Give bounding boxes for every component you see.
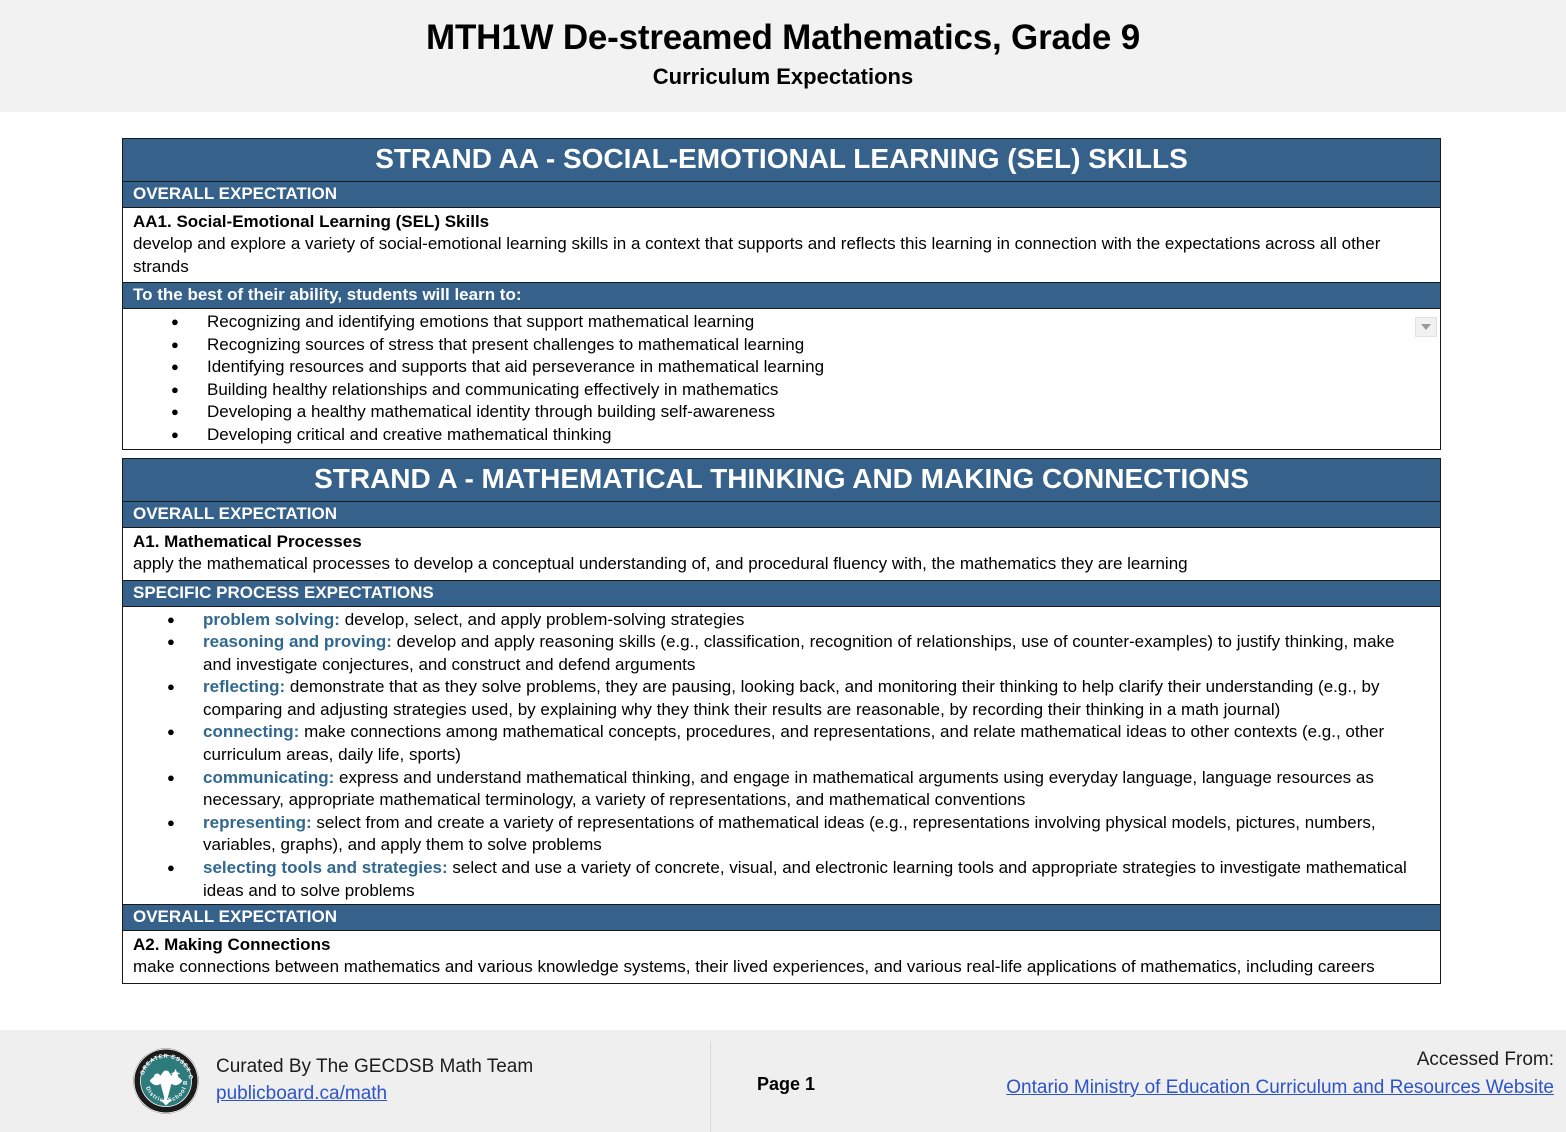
list-item: Recognizing sources of stress that prese… <box>123 334 1426 357</box>
footer-credit-lines: Curated By The GECDSB Math Team publicbo… <box>216 1053 533 1109</box>
list-item: representing: select from and create a v… <box>123 812 1426 857</box>
page-subtitle: Curriculum Expectations <box>0 62 1566 92</box>
page-number: Page 1 <box>757 1074 815 1095</box>
document-header: MTH1W De-streamed Mathematics, Grade 9 C… <box>0 0 1566 112</box>
list-item-text: develop, select, and apply problem-solvi… <box>340 610 744 629</box>
ontario-curriculum-link[interactable]: Ontario Ministry of Education Curriculum… <box>1006 1074 1554 1102</box>
strand-a-bullet-list: problem solving: develop, select, and ap… <box>123 607 1440 905</box>
strand-table-a: STRAND A - MATHEMATICAL THINKING AND MAK… <box>122 458 1441 984</box>
list-item-text: express and understand mathematical thin… <box>203 768 1374 810</box>
strand-a-title: STRAND A - MATHEMATICAL THINKING AND MAK… <box>123 459 1440 502</box>
list-item-text: select from and create a variety of repr… <box>203 813 1376 855</box>
list-item: Identifying resources and supports that … <box>123 356 1426 379</box>
strand-a-expectation-heading-1: A1. Mathematical Processes <box>133 531 1430 553</box>
list-item-text: Developing critical and creative mathema… <box>207 425 611 444</box>
list-item-term: problem solving: <box>203 610 340 629</box>
footer-source-block: Accessed From: Ontario Ministry of Educa… <box>1006 1046 1554 1102</box>
list-item-text: demonstrate that as they solve problems,… <box>203 677 1379 719</box>
strand-aa-overall-expectation-band: OVERALL EXPECTATION <box>123 182 1440 208</box>
list-item-term: reflecting: <box>203 677 285 696</box>
list-item-term: connecting: <box>203 722 299 741</box>
list-item-term: selecting tools and strategies: <box>203 858 448 877</box>
strand-a-overall-expectation-band-1: OVERALL EXPECTATION <box>123 502 1440 528</box>
list-item-term: representing: <box>203 813 312 832</box>
page-title: MTH1W De-streamed Mathematics, Grade 9 <box>0 16 1566 60</box>
list-item: selecting tools and strategies: select a… <box>123 857 1426 902</box>
list-item: problem solving: develop, select, and ap… <box>123 609 1426 632</box>
strand-aa-expectation-text: develop and explore a variety of social-… <box>133 233 1430 278</box>
list-item: connecting: make connections among mathe… <box>123 721 1426 766</box>
strand-a-expectation-text-1: apply the mathematical processes to deve… <box>133 553 1430 576</box>
chevron-down-icon[interactable] <box>1415 317 1437 337</box>
strand-a-expectation-heading-2: A2. Making Connections <box>133 934 1430 956</box>
list-item: Building healthy relationships and commu… <box>123 379 1426 402</box>
footer-credit-block: GREATER ESSEX COUNTY District School Boa… <box>132 1046 533 1116</box>
list-item: reflecting: demonstrate that as they sol… <box>123 676 1426 721</box>
list-item-text: Recognizing and identifying emotions tha… <box>207 312 754 331</box>
strand-aa-expectation-heading: AA1. Social-Emotional Learning (SEL) Ski… <box>133 211 1430 233</box>
strand-aa-bullet-list: Recognizing and identifying emotions tha… <box>123 309 1440 449</box>
strand-aa-specific-band: To the best of their ability, students w… <box>123 282 1440 309</box>
strand-a-expectation-text-2: make connections between mathematics and… <box>133 956 1430 979</box>
strand-a-overall-expectation-band-2: OVERALL EXPECTATION <box>123 904 1440 931</box>
list-item-text: Building healthy relationships and commu… <box>207 380 778 399</box>
footer-divider <box>710 1041 711 1132</box>
chevron-down-glyph <box>1421 324 1431 330</box>
list-item: Developing a healthy mathematical identi… <box>123 401 1426 424</box>
list-item: Recognizing and identifying emotions tha… <box>123 311 1426 334</box>
list-item-text: Identifying resources and supports that … <box>207 357 824 376</box>
list-item-text: Developing a healthy mathematical identi… <box>207 402 775 421</box>
strand-a-overall-expectation-1: A1. Mathematical Processes apply the mat… <box>123 528 1440 580</box>
document-body: STRAND AA - SOCIAL-EMOTIONAL LEARNING (S… <box>0 112 1566 1030</box>
list-item: reasoning and proving: develop and apply… <box>123 631 1426 676</box>
strand-a-specific-band: SPECIFIC PROCESS EXPECTATIONS <box>123 580 1440 607</box>
list-item-term: reasoning and proving: <box>203 632 392 651</box>
strand-aa-title: STRAND AA - SOCIAL-EMOTIONAL LEARNING (S… <box>123 139 1440 182</box>
strand-table-aa: STRAND AA - SOCIAL-EMOTIONAL LEARNING (S… <box>122 138 1441 450</box>
accessed-from-label: Accessed From: <box>1006 1046 1554 1074</box>
gecdsb-logo: GREATER ESSEX COUNTY District School Boa… <box>132 1046 200 1116</box>
footer-credit-text: Curated By The GECDSB Math Team <box>216 1053 533 1080</box>
document-footer: GREATER ESSEX COUNTY District School Boa… <box>0 1030 1566 1132</box>
strand-a-overall-expectation-2: A2. Making Connections make connections … <box>123 931 1440 983</box>
strand-aa-overall-expectation: AA1. Social-Emotional Learning (SEL) Ski… <box>123 208 1440 282</box>
list-item: Developing critical and creative mathema… <box>123 424 1426 447</box>
publicboard-math-link[interactable]: publicboard.ca/math <box>216 1080 387 1107</box>
list-item: communicating: express and understand ma… <box>123 767 1426 812</box>
list-item-term: communicating: <box>203 768 334 787</box>
list-item-text: Recognizing sources of stress that prese… <box>207 335 804 354</box>
list-item-text: make connections among mathematical conc… <box>203 722 1384 764</box>
